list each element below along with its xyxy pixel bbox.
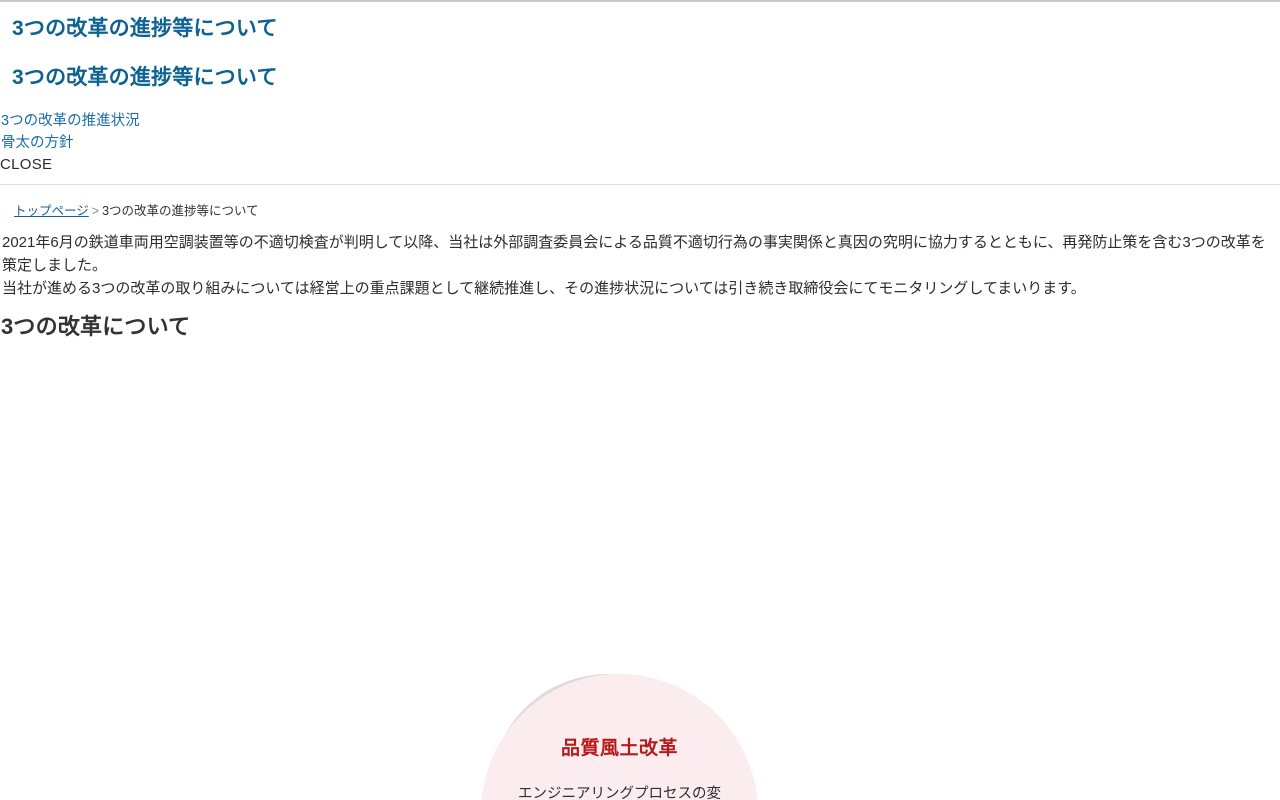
page-title-secondary: 3つの改革の進捗等について (0, 42, 1280, 91)
nav-item-progress[interactable]: 3つの改革の推進状況 (0, 110, 1280, 132)
breadcrumb-current: 3つの改革の進捗等について (102, 204, 259, 218)
intro-paragraph-2: 当社が進める3つの改革の取り組みについては経営上の重点課題として継続推進し、その… (2, 278, 1280, 301)
nav-link-policy[interactable]: 骨太の方針 (0, 132, 1280, 154)
nav-link-progress[interactable]: 3つの改革の推進状況 (0, 110, 1280, 132)
bubble-quality-body: エンジニアリングプロセスの変革により、現場が不適切行為を起こす必要のない仕組みと… (512, 761, 727, 800)
intro-paragraph-1: 2021年6月の鉄道車両用空調装置等の不適切検査が判明して以降、当社は外部調査委… (2, 232, 1280, 278)
header-divider (0, 184, 1280, 185)
bubble-quality-reform: 品質風土改革 エンジニアリングプロセスの変革により、現場が不適切行為を起こす必要… (481, 674, 758, 800)
nav-item-policy[interactable]: 骨太の方針 (0, 132, 1280, 154)
breadcrumb-link-home[interactable]: トップページ (14, 204, 89, 218)
close-button[interactable]: CLOSE (0, 154, 1280, 177)
section-nav: 3つの改革の推進状況 骨太の方針 CLOSE (0, 92, 1280, 177)
breadcrumb-separator: > (89, 204, 102, 218)
page-root: 3つの改革の進捗等について 3つの改革の進捗等について 3つの改革の推進状況 骨… (0, 0, 1280, 800)
bubble-quality-title: 品質風土改革 (561, 674, 678, 761)
section-title-three-reforms: 3つの改革について (1, 309, 1280, 341)
three-reforms-diagram: 品質風土改革 エンジニアリングプロセスの変革により、現場が不適切行為を起こす必要… (0, 347, 1280, 800)
intro-text: 2021年6月の鉄道車両用空調装置等の不適切検査が判明して以降、当社は外部調査委… (0, 220, 1280, 300)
site-header: 3つの改革の進捗等について 3つの改革の進捗等について 3つの改革の推進状況 骨… (0, 2, 1280, 185)
breadcrumb: トップページ>3つの改革の進捗等について (0, 193, 1280, 221)
page-title-primary: 3つの改革の進捗等について (0, 2, 1280, 42)
